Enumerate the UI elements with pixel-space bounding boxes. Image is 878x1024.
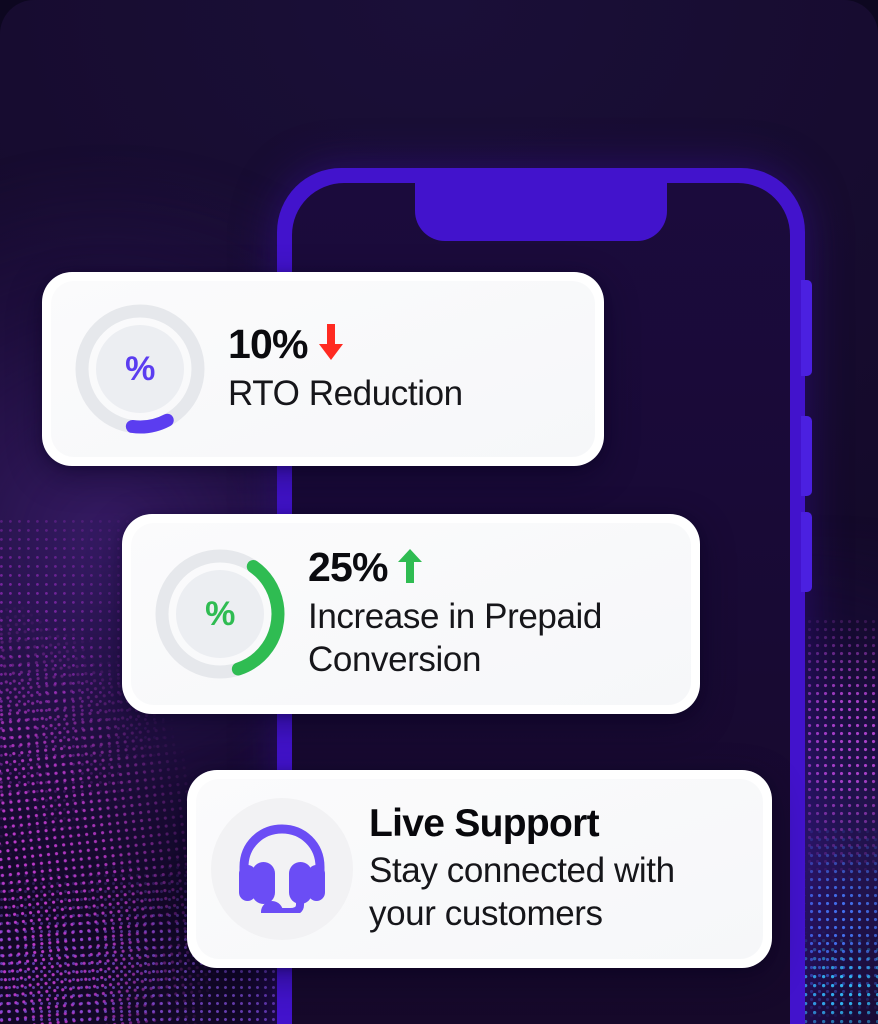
gauge-percent-symbol: % [68,297,212,441]
arrow-down-icon [314,322,348,366]
stat-value-rto: 10% [228,324,308,365]
feature-card-text-support: Live Support Stay connected with your cu… [369,803,675,936]
phone-volume-down-button[interactable] [801,416,812,496]
feature-card-live-support[interactable]: Live Support Stay connected with your cu… [187,770,772,968]
stat-row-prepaid: 25% [308,547,602,589]
promo-graphic: % 10% RTO Reduction % [0,0,878,1024]
stat-row-rto: 10% [228,322,463,366]
headset-icon [235,821,329,918]
phone-volume-up-button[interactable] [801,280,812,376]
stat-label-prepaid: Increase in Prepaid Conversion [308,596,602,681]
gauge-prepaid-conversion: % [148,542,292,686]
headset-icon-container [211,798,353,940]
gauge-rto-reduction: % [68,297,212,441]
stat-card-prepaid-conversion[interactable]: % 25% Increase in Prepaid Conversion [122,514,700,714]
stat-card-rto-reduction[interactable]: % 10% RTO Reduction [42,272,604,466]
arrow-up-icon [394,547,426,589]
stat-label-rto: RTO Reduction [228,373,463,416]
gauge-percent-symbol: % [148,542,292,686]
support-title: Live Support [369,803,675,845]
support-subtitle: Stay connected with your customers [369,849,675,936]
stat-card-text-prepaid: 25% Increase in Prepaid Conversion [308,547,602,681]
stat-value-prepaid: 25% [308,547,388,588]
phone-notch [415,183,667,241]
phone-power-button[interactable] [801,512,812,592]
stat-card-text-rto: 10% RTO Reduction [228,322,463,416]
